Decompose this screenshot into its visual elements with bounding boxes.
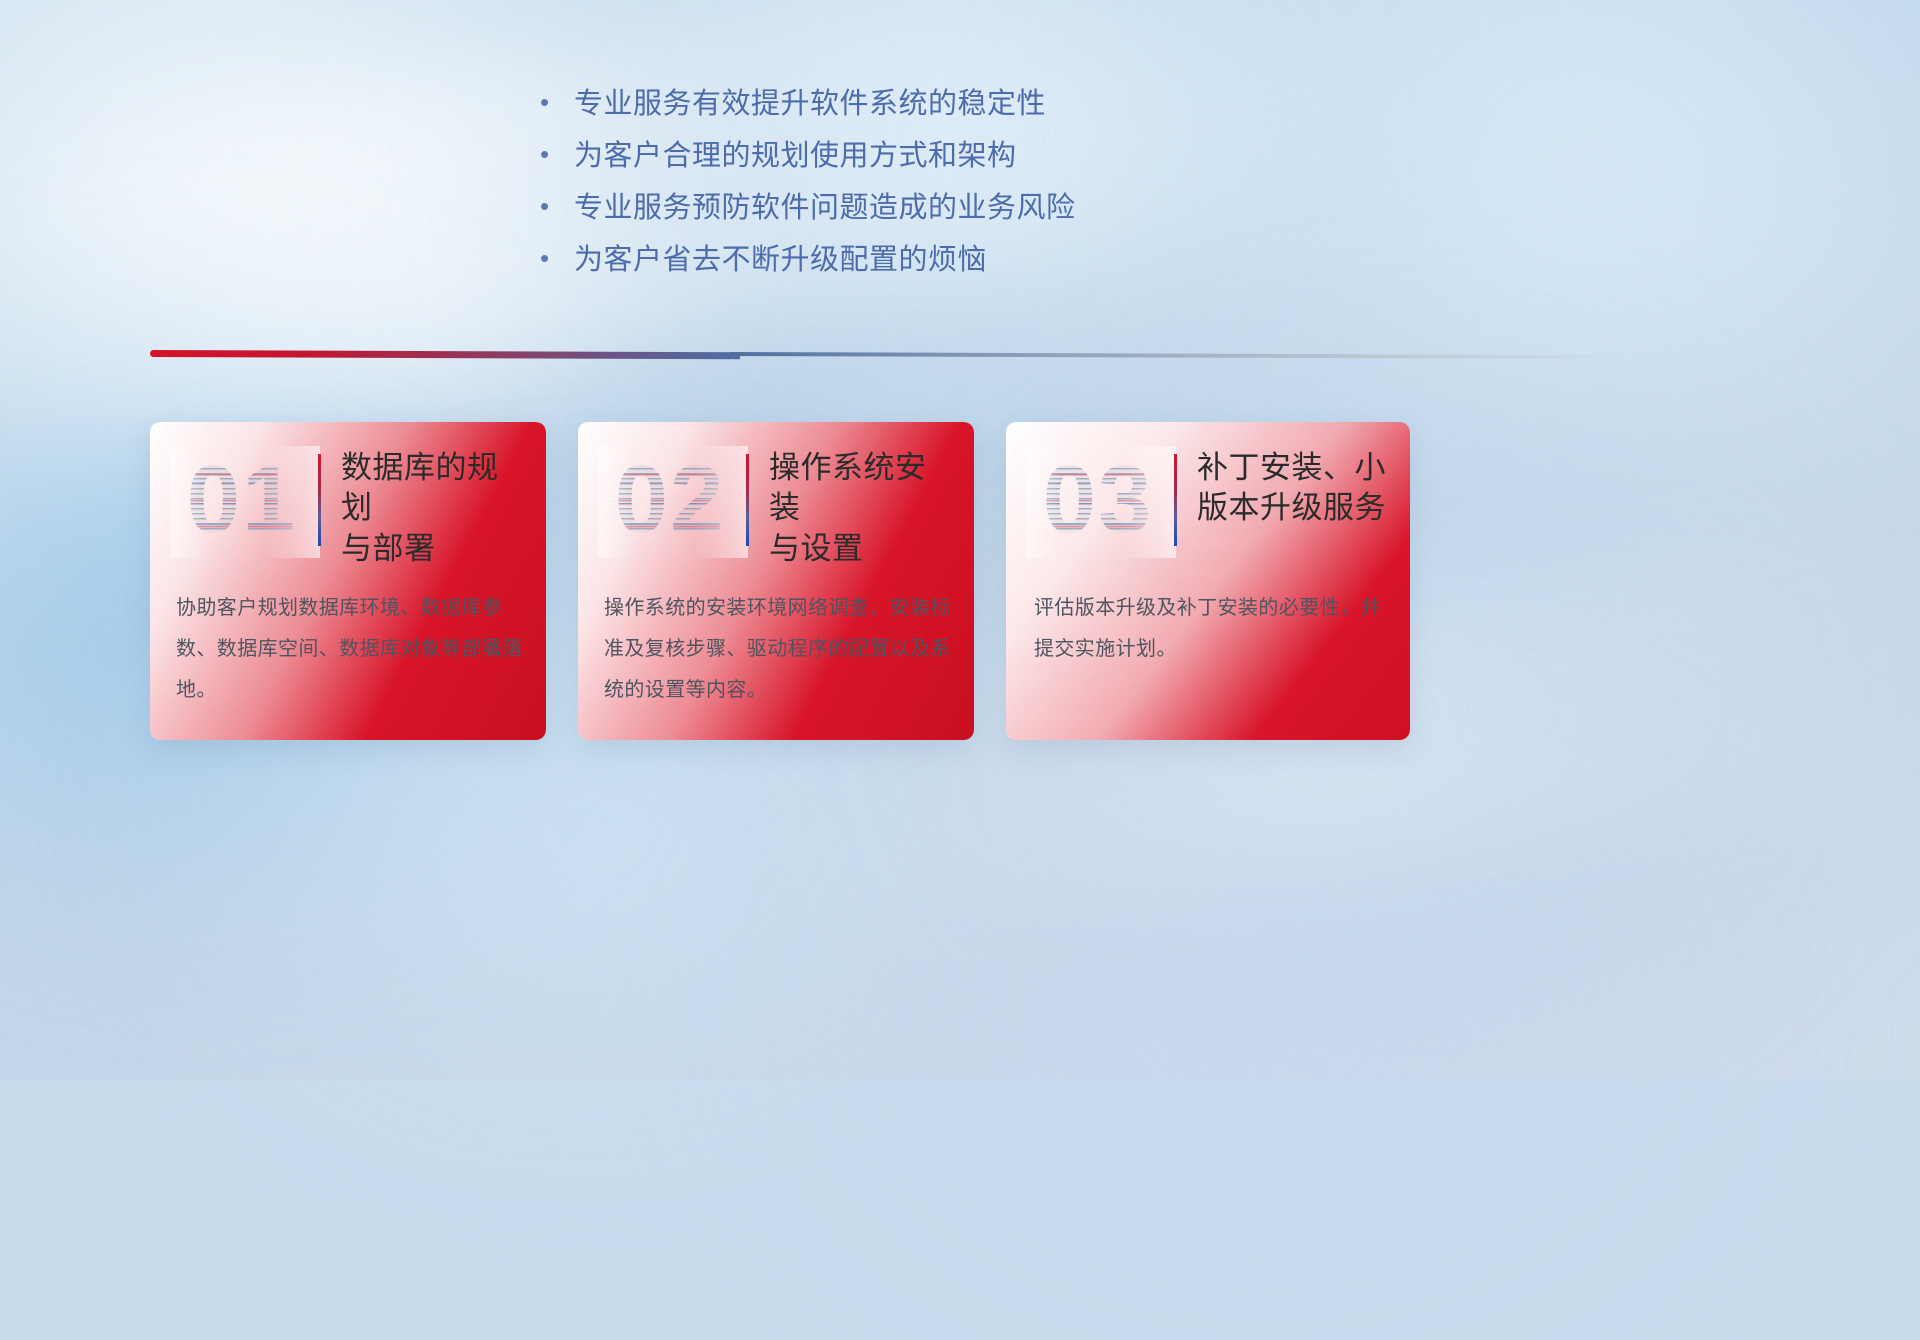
service-card-list: 0101数据库的规划与部署协助客户规划数据库环境、数据库参数、数据库空间、数据库… <box>150 422 1570 742</box>
card-title-line-1: 补丁安装、小 <box>1197 448 1386 488</box>
card-header: 数据库的规划与部署 <box>318 448 528 569</box>
card-title-rule <box>746 454 749 546</box>
card-title-rule <box>1174 454 1177 546</box>
bullet-item: •为客户合理的规划使用方式和架构 <box>540 140 1076 192</box>
card-description: 操作系统的安装环境网络调查、安装标准及复核步骤、驱动程序的配置以及系统的设置等内… <box>604 588 952 711</box>
card-title-line-2: 版本升级服务 <box>1197 488 1386 528</box>
bullet-text: 专业服务有效提升软件系统的稳定性 <box>574 88 1046 121</box>
card-description: 协助客户规划数据库环境、数据库参数、数据库空间、数据库对象等部署落地。 <box>176 588 524 711</box>
divider-accent-segment <box>150 350 740 359</box>
card-title-rule <box>318 454 321 546</box>
bullet-marker-icon: • <box>540 88 574 118</box>
bullet-text: 为客户合理的规划使用方式和架构 <box>574 140 1017 173</box>
divider-fade-segment <box>730 352 1620 359</box>
card-header: 操作系统安装与设置 <box>746 448 956 569</box>
bullet-text: 为客户省去不断升级配置的烦恼 <box>574 244 987 277</box>
card-number-watermark-accent: 03 <box>1032 448 1164 552</box>
bullet-item: •为客户省去不断升级配置的烦恼 <box>540 244 1076 296</box>
card-description: 评估版本升级及补丁安装的必要性，并提交实施计划。 <box>1034 588 1388 670</box>
card-title-line-2: 与设置 <box>769 529 956 569</box>
card-number-watermark-accent: 01 <box>176 448 308 552</box>
service-card[interactable]: 0202操作系统安装与设置操作系统的安装环境网络调查、安装标准及复核步骤、驱动程… <box>578 422 974 740</box>
card-title: 数据库的规划与部署 <box>341 448 528 569</box>
card-title-line-2: 与部署 <box>341 529 528 569</box>
service-card[interactable]: 0101数据库的规划与部署协助客户规划数据库环境、数据库参数、数据库空间、数据库… <box>150 422 546 740</box>
service-card[interactable]: 0303补丁安装、小版本升级服务评估版本升级及补丁安装的必要性，并提交实施计划。 <box>1006 422 1410 740</box>
card-title-line-1: 数据库的规划 <box>341 448 528 529</box>
slide-content: •专业服务有效提升软件系统的稳定性•为客户合理的规划使用方式和架构•专业服务预防… <box>0 0 1920 1080</box>
card-title-line-1: 操作系统安装 <box>769 448 956 529</box>
bullet-marker-icon: • <box>540 140 574 170</box>
card-title: 补丁安装、小版本升级服务 <box>1197 448 1386 529</box>
bullet-marker-icon: • <box>540 192 574 222</box>
card-header: 补丁安装、小版本升级服务 <box>1174 448 1392 546</box>
bullet-text: 专业服务预防软件问题造成的业务风险 <box>574 192 1076 225</box>
bullet-item: •专业服务有效提升软件系统的稳定性 <box>540 88 1076 140</box>
bullet-list: •专业服务有效提升软件系统的稳定性•为客户合理的规划使用方式和架构•专业服务预防… <box>540 88 1076 296</box>
bullet-item: •专业服务预防软件问题造成的业务风险 <box>540 192 1076 244</box>
card-title: 操作系统安装与设置 <box>769 448 956 569</box>
card-number-watermark-accent: 02 <box>604 448 736 552</box>
bullet-marker-icon: • <box>540 244 574 274</box>
section-divider <box>150 348 1620 360</box>
